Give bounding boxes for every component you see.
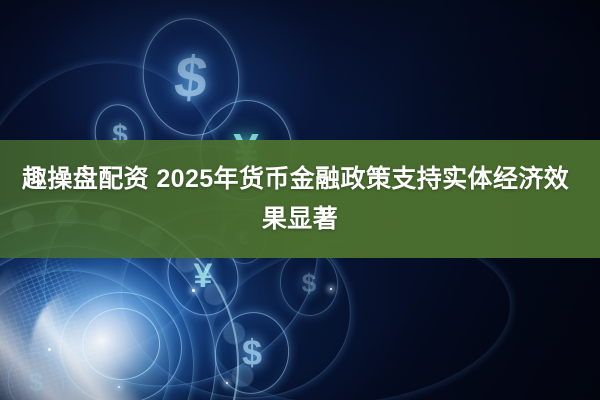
dollar-sign-icon: $ bbox=[8, 352, 64, 400]
spark-dot bbox=[192, 289, 195, 292]
banner-image: $ $ ¥ ¥ $ $ $ € 趣操盘配资 2025年货币金融政策支持实体经济效… bbox=[0, 0, 600, 400]
coin-currency-bottom-right: $ bbox=[208, 306, 295, 400]
spark-dot bbox=[48, 348, 51, 351]
spark-dot bbox=[330, 288, 332, 290]
page-title-line-1: 趣操盘配资 2025年货币金融政策支持实体经济效 bbox=[14, 159, 569, 199]
spark-dot bbox=[226, 382, 228, 384]
title-band: 趣操盘配资 2025年货币金融政策支持实体经济效 果显著 bbox=[0, 140, 600, 258]
spark-dot bbox=[118, 386, 120, 388]
page-title-line-2: 果显著 bbox=[262, 199, 338, 239]
coin-currency-bottom-left: $ bbox=[0, 344, 73, 400]
dollar-sign-icon: $ bbox=[280, 250, 338, 316]
